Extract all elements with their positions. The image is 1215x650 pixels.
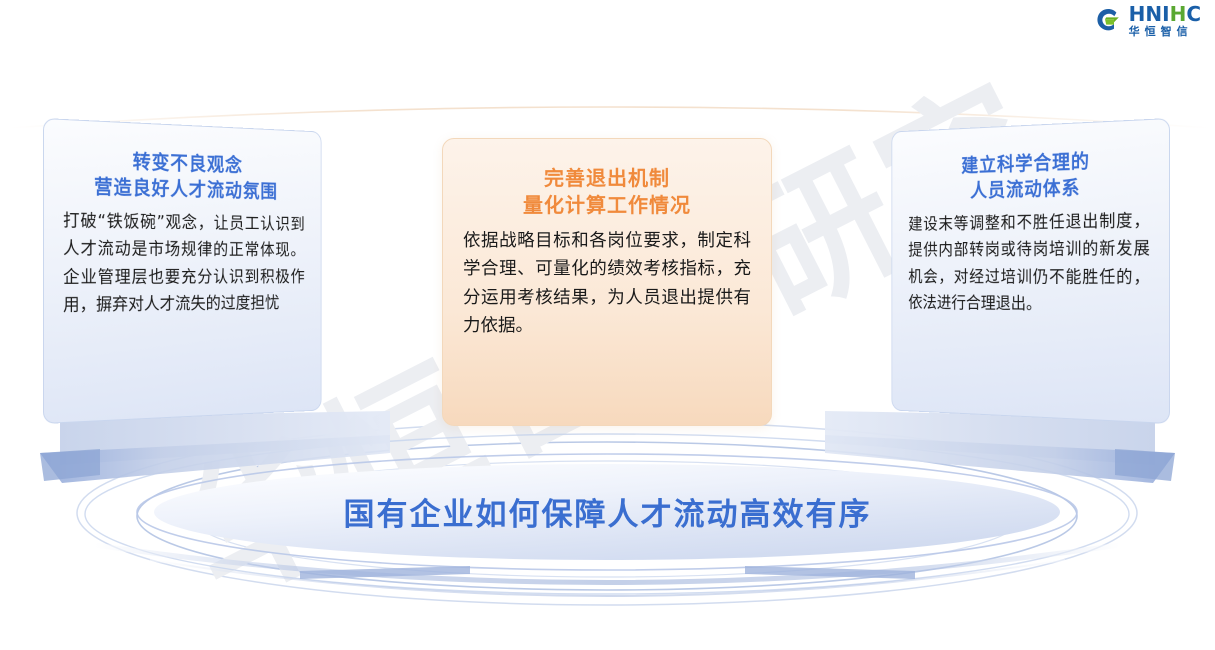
logo-text: HNIHC 华恒智信 (1129, 4, 1201, 37)
card-title-line2: 人员流动体系 (970, 176, 1080, 202)
banner-title: 国有企业如何保障人才流动高效有序 (0, 489, 1215, 534)
card-title-line1: 转变不良观念 (133, 150, 243, 177)
card-body: 打破“铁饭碗”观念，让员工认识到人才流动是市场规律的正常体现。企业管理层也要充分… (63, 207, 305, 320)
card-title: 建立科学合理的 人员流动体系 (908, 146, 1150, 205)
card-mobility-system[interactable]: 建立科学合理的 人员流动体系 建设末等调整和不胜任退出制度，提供内部转岗或待岗培… (891, 118, 1170, 424)
logo[interactable]: HNIHC 华恒智信 (1093, 4, 1201, 37)
card-title-line2: 量化计算工作情况 (523, 193, 691, 217)
logo-english: HNIHC (1129, 4, 1201, 24)
card-title-line1: 完善退出机制 (544, 166, 670, 190)
c-arrow-logo-icon (1093, 6, 1123, 36)
card-group: 转变不良观念 营造良好人才流动氛围 打破“铁饭碗”观念，让员工认识到人才流动是市… (0, 0, 1215, 650)
card-body: 建设末等调整和不胜任退出制度，提供内部转岗或待岗培训的新发展机会，对经过培训仍不… (908, 207, 1150, 320)
card-title: 转变不良观念 营造良好人才流动氛围 (63, 146, 305, 205)
card-exit-mechanism[interactable]: 完善退出机制 量化计算工作情况 依据战略目标和各岗位要求，制定科学合理、可量化的… (442, 138, 772, 426)
card-title: 完善退出机制 量化计算工作情况 (463, 165, 751, 219)
card-title-line2: 营造良好人才流动氛围 (94, 175, 278, 203)
card-title-line1: 建立科学合理的 (961, 149, 1090, 177)
logo-chinese: 华恒智信 (1129, 26, 1201, 37)
card-transform-concept[interactable]: 转变不良观念 营造良好人才流动氛围 打破“铁饭碗”观念，让员工认识到人才流动是市… (43, 118, 322, 424)
slide-canvas: 华恒智信研究 转变不良观念 营造良好人才流动氛围 打破“铁饭碗”观念，让员工认识… (0, 0, 1215, 650)
card-body: 依据战略目标和各岗位要求，制定科学合理、可量化的绩效考核指标，充分运用考核结果，… (463, 227, 751, 340)
